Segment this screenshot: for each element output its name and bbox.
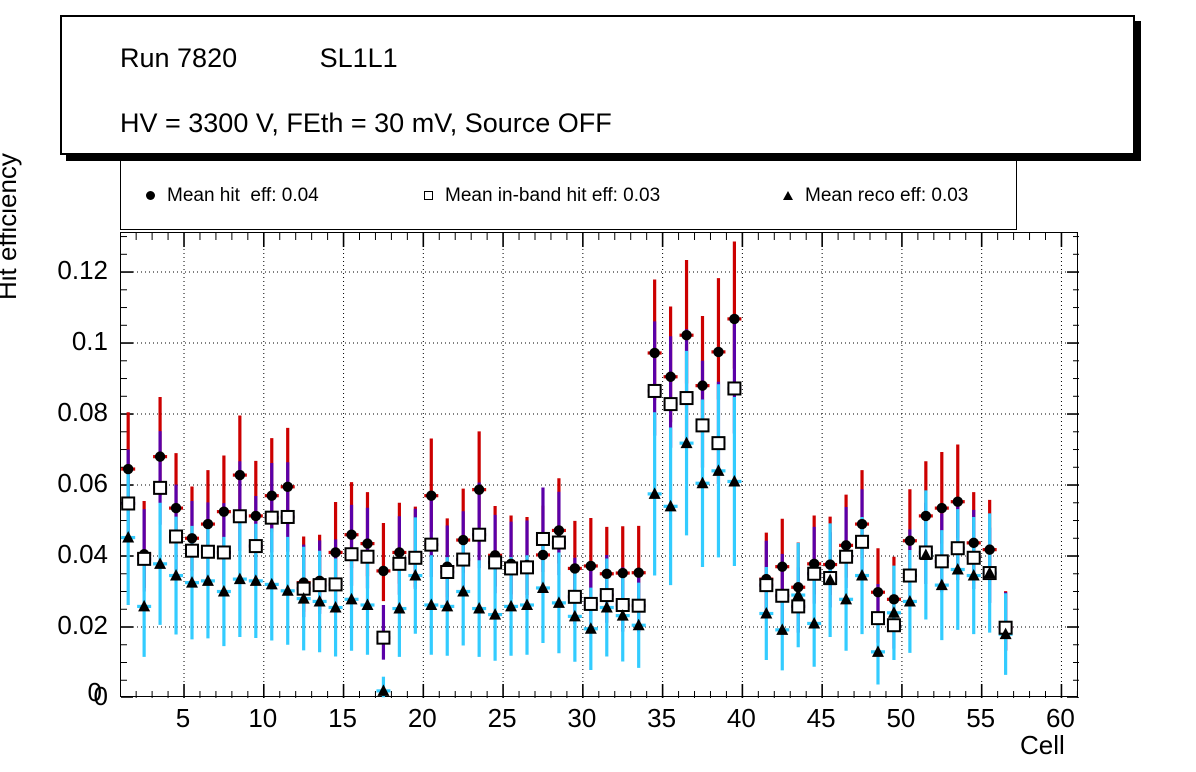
data-point-circle	[378, 566, 388, 576]
data-point-circle	[984, 544, 994, 554]
data-point-square	[665, 398, 677, 410]
y-tick-label: 0.1	[0, 326, 108, 357]
x-tick-label: 50	[861, 703, 941, 734]
title-line-conditions: HV = 3300 V, FEth = 30 mV, Source OFF	[120, 108, 612, 139]
y-tick-label: 0.02	[0, 610, 108, 641]
data-point-square	[122, 497, 134, 509]
data-point-square	[537, 533, 549, 545]
x-tick-label: 40	[701, 703, 781, 734]
data-point-square	[856, 536, 868, 548]
data-point-square	[505, 562, 517, 574]
data-point-square	[649, 385, 661, 397]
data-point-square	[888, 619, 900, 631]
data-point-square	[904, 570, 916, 582]
data-point-circle	[123, 464, 133, 474]
x-tick-label: 5	[143, 703, 223, 734]
y-tick-label: 0.06	[0, 468, 108, 499]
y-tick-label: 0.12	[0, 255, 108, 286]
data-point-square	[633, 600, 645, 612]
data-point-square	[425, 539, 437, 551]
data-point-square	[728, 382, 740, 394]
data-point-square	[377, 632, 389, 644]
data-point-square	[282, 511, 294, 523]
data-point-square	[489, 556, 501, 568]
data-point-circle	[283, 482, 293, 492]
data-point-circle	[171, 503, 181, 513]
data-point-square	[952, 542, 964, 554]
data-point-square	[154, 482, 166, 494]
data-point-square	[792, 600, 804, 612]
data-point-square	[553, 537, 565, 549]
data-point-square	[314, 579, 326, 591]
data-point-square	[760, 579, 772, 591]
data-point-square	[170, 530, 182, 542]
data-point-circle	[362, 538, 372, 548]
data-point-circle	[602, 569, 612, 579]
data-point-circle	[235, 470, 245, 480]
data-point-circle	[921, 511, 931, 521]
data-point-circle	[729, 314, 739, 324]
open-square-marker-icon	[411, 187, 445, 205]
data-point-circle	[330, 547, 340, 557]
y-tick-label: 0.08	[0, 397, 108, 428]
grid-lines	[121, 233, 1079, 698]
data-point-square	[968, 552, 980, 564]
data-point-square	[186, 545, 198, 557]
data-point-square	[393, 558, 405, 570]
data-point-circle	[937, 503, 947, 513]
data-point-circle	[665, 372, 675, 382]
x-axis-origin-label: 0	[62, 677, 102, 708]
filled-circle-marker-icon	[133, 187, 167, 205]
data-point-square	[250, 540, 262, 552]
data-point-square	[346, 548, 358, 560]
data-point-circle	[825, 559, 835, 569]
data-point-square	[585, 598, 597, 610]
data-point-square	[330, 578, 342, 590]
legend-entry-inband-hit-eff[interactable]: Mean in-band hit eff: 0.03	[411, 161, 660, 231]
legend-label-reco-eff: Mean reco eff: 0.03	[805, 185, 968, 207]
x-tick-label: 60	[1020, 703, 1100, 734]
data-point-circle	[889, 594, 899, 604]
data-point-square	[681, 392, 693, 404]
data-point-circle	[155, 451, 165, 461]
data-point-square	[138, 553, 150, 565]
data-point-square	[202, 546, 214, 558]
data-point-circle	[203, 519, 213, 529]
legend-label-hit-eff: Mean hit eff: 0.04	[167, 185, 319, 207]
data-point-square	[457, 554, 469, 566]
legend-label-inband-hit-eff: Mean in-band hit eff: 0.03	[445, 185, 660, 207]
legend-entry-hit-eff[interactable]: Mean hit eff: 0.04	[133, 161, 319, 231]
data-point-circle	[857, 519, 867, 529]
data-point-circle	[873, 587, 883, 597]
x-tick-label: 55	[941, 703, 1021, 734]
data-point-square	[712, 437, 724, 449]
data-point-circle	[458, 535, 468, 545]
x-tick-label: 45	[781, 703, 861, 734]
data-point-square	[840, 551, 852, 563]
data-point-circle	[618, 568, 628, 578]
data-point-square	[601, 589, 613, 601]
data-point-circle	[713, 347, 723, 357]
data-point-circle	[187, 533, 197, 543]
data-point-circle	[219, 506, 229, 516]
data-point-square	[266, 512, 278, 524]
data-point-square	[473, 529, 485, 541]
data-point-circle	[538, 550, 548, 560]
series-3-errorbars	[121, 351, 1012, 697]
data-point-circle	[777, 561, 787, 571]
filled-triangle-marker-icon	[771, 187, 805, 205]
data-point-circle	[570, 563, 580, 573]
data-point-circle	[841, 540, 851, 550]
data-point-square	[697, 419, 709, 431]
data-point-square	[441, 566, 453, 578]
data-point-square	[872, 612, 884, 624]
y-tick-label: 0.04	[0, 539, 108, 570]
data-point-square	[569, 591, 581, 603]
x-tick-label: 20	[382, 703, 462, 734]
data-point-square	[234, 510, 246, 522]
data-point-circle	[267, 490, 277, 500]
x-axis-title: Cell	[1020, 730, 1065, 761]
x-tick-label: 15	[303, 703, 383, 734]
data-point-circle	[633, 567, 643, 577]
data-point-circle	[969, 538, 979, 548]
legend-entry-reco-eff[interactable]: Mean reco eff: 0.03	[771, 161, 968, 231]
title-line-run: Run 7820 SL1L1	[120, 43, 398, 74]
data-point-square	[218, 546, 230, 558]
x-tick-label: 25	[462, 703, 542, 734]
plot-frame	[120, 232, 1078, 697]
data-point-square	[808, 568, 820, 580]
data-point-circle	[586, 561, 596, 571]
legend-box: Mean hit eff: 0.04 Mean in-band hit eff:…	[120, 160, 1017, 230]
x-tick-label: 10	[223, 703, 303, 734]
data-point-square	[521, 561, 533, 573]
data-point-circle	[905, 536, 915, 546]
data-point-square	[361, 551, 373, 563]
title-box-shadow-right	[1135, 21, 1141, 161]
title-box: Run 7820 SL1L1 HV = 3300 V, FEth = 30 mV…	[60, 15, 1135, 155]
data-point-square	[409, 552, 421, 564]
plot-canvas	[121, 233, 1079, 698]
data-point-circle	[697, 380, 707, 390]
data-point-circle	[649, 348, 659, 358]
data-point-circle	[953, 497, 963, 507]
data-point-circle	[426, 490, 436, 500]
data-point-circle	[681, 330, 691, 340]
data-point-circle	[554, 525, 564, 535]
x-tick-label: 30	[542, 703, 622, 734]
data-point-square	[776, 590, 788, 602]
x-tick-label: 35	[622, 703, 702, 734]
data-point-circle	[394, 547, 404, 557]
data-point-circle	[474, 484, 484, 494]
data-point-circle	[346, 530, 356, 540]
data-point-square	[936, 555, 948, 567]
data-point-circle	[251, 511, 261, 521]
frame-ticks	[121, 233, 1079, 698]
